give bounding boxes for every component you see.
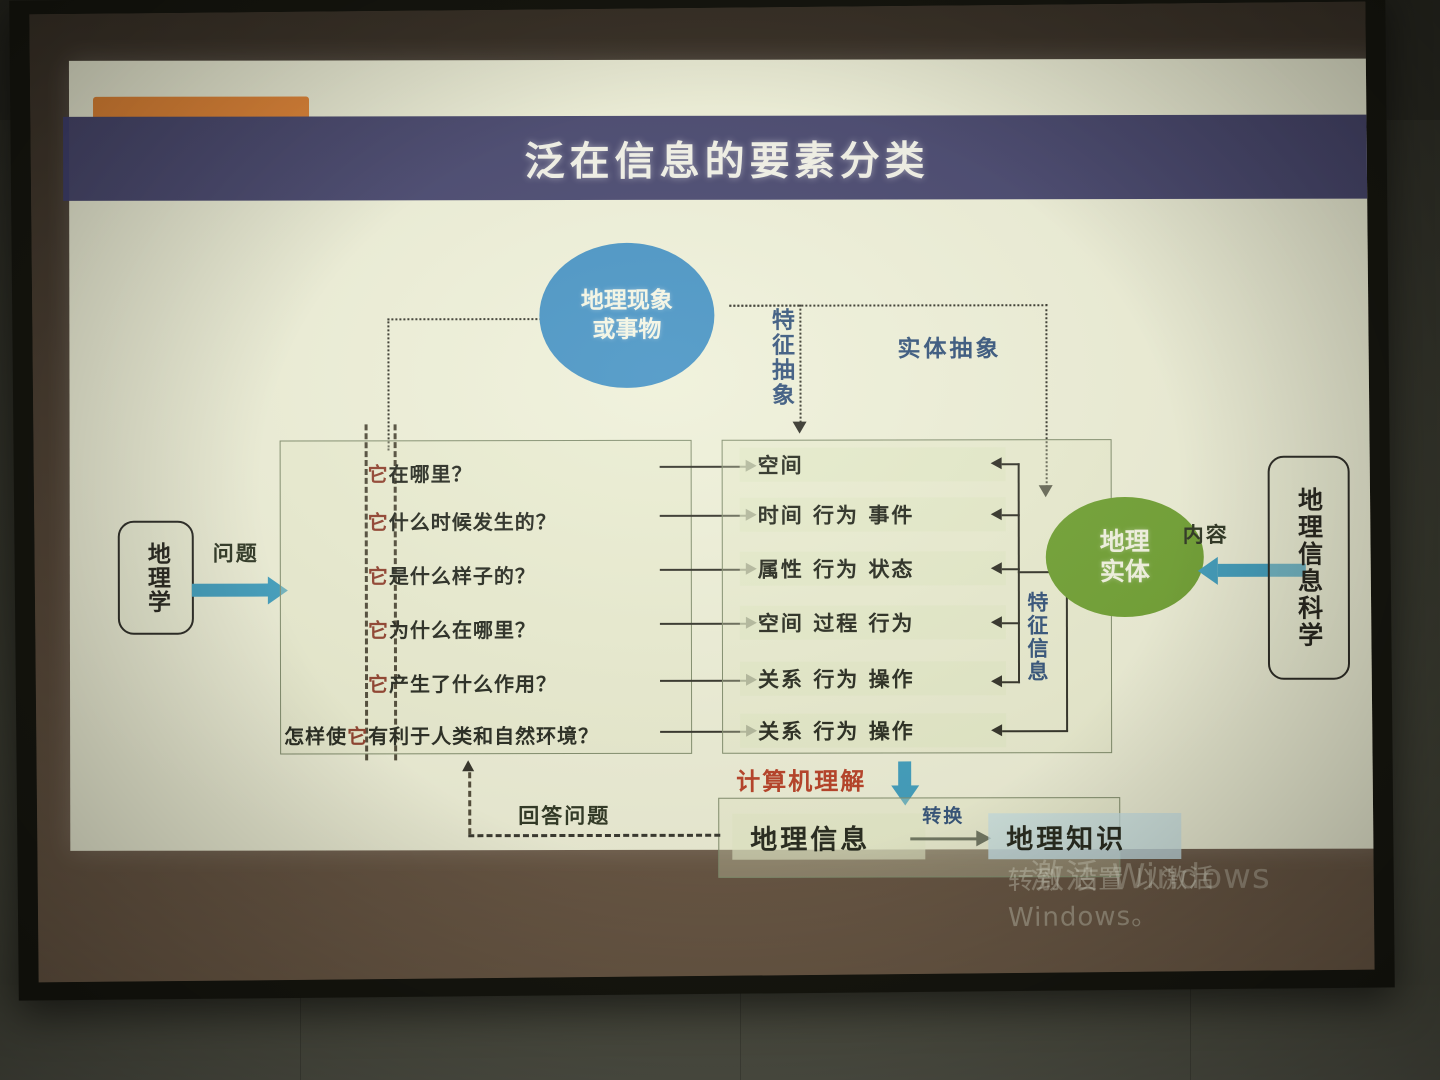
presentation-slide: 泛在信息的要素分类 [69,59,1375,851]
dotted-feature-vertical [799,305,801,423]
diagram-canvas: 地理现象 或事物 特征抽象 实体抽象 地理学 问题 [69,199,1374,851]
label-computer-understanding: 计算机理解 [736,762,866,797]
blue-arrow-understanding [898,761,911,787]
question-text: 有利于人类和自然环境？ [368,724,599,748]
question-row-6[interactable]: 怎样使它有利于人类和自然环境？ [284,720,599,750]
answer-chip-3[interactable]: 属性 行为 状态 [740,551,1006,585]
answer-text: 关系 行为 操作 [758,715,915,745]
answer-chip-2[interactable]: 时间 行为 事件 [740,497,1006,531]
wall-seam [300,985,301,1080]
transform-arrow-line [910,837,978,840]
answer-chip-6[interactable]: 关系 行为 操作 [740,713,1006,747]
feature-bus-branch-5 [1002,681,1020,683]
label-entity-abstraction: 实体抽象 [897,329,1001,363]
geographic-information-label: 地理信息 [750,817,870,856]
node-phenomenon-line1: 地理现象 [581,287,673,315]
blue-arrow-question [192,584,270,597]
label-question-arrow: 问题 [213,538,259,568]
question-pronoun: 它 [347,724,368,748]
node-entity-line1: 地理 [1100,527,1150,558]
label-transform: 转换 [922,801,964,828]
arrowhead-a6 [991,724,1002,736]
slide-title: 泛在信息的要素分类 [69,115,1375,201]
feature-bus-branch-2 [1002,514,1020,516]
answer-text: 时间 行为 事件 [758,499,915,529]
feedback-dash-vertical [468,772,471,834]
projector-screen-surface: 泛在信息的要素分类 [29,2,1374,983]
question-text: 产生了什么作用？ [389,672,557,696]
question-text: 是什么样子的？ [389,564,536,588]
answer-text: 空间 [758,450,804,480]
feature-bus-branch-3 [1002,568,1020,570]
entity-bus-branch-6 [1002,730,1068,732]
question-text: 什么时候发生的？ [389,510,557,534]
question-text: 在哪里？ [389,462,473,486]
node-geography-label: 地理学 [142,542,169,614]
question-row-4[interactable]: 它为什么在哪里？ [368,614,536,643]
feature-bus-branch-1 [1002,463,1020,465]
node-phenomenon-line2: 或事物 [581,315,673,343]
question-row-2[interactable]: 它什么时候发生的？ [368,506,557,535]
dotted-entity-horizontal [729,304,1047,307]
windows-watermark-line2: 转到 设置 以激活 Windows。 [1008,857,1375,935]
question-pronoun: 它 [368,564,389,588]
questions-panel [280,440,693,755]
question-pronoun: 它 [368,462,389,486]
blue-arrowhead-content [1198,557,1218,585]
question-row-1[interactable]: 它在哪里？ [368,458,473,487]
arrowhead-feedback [462,760,474,771]
wall-lower-panel [0,985,1440,1080]
feature-bus-branch-4 [1002,622,1020,624]
question-text: 为什么在哪里？ [389,618,536,642]
chip-geographic-information[interactable]: 地理信息 [732,813,925,859]
question-prefix: 怎样使 [284,724,347,748]
answer-text: 关系 行为 操作 [758,663,915,693]
answer-text: 属性 行为 状态 [758,553,915,583]
question-pronoun: 它 [368,618,389,642]
node-entity-line2: 实体 [1100,557,1150,588]
arrowhead-a2 [991,508,1002,520]
screenshot-root: 泛在信息的要素分类 [0,0,1440,1080]
label-feature-info: 特征信息 [1022,591,1052,683]
arrowhead-a4 [991,616,1002,628]
node-gis-science-label: 地理信息科学 [1294,487,1324,649]
arrowhead-a1 [991,457,1002,469]
answer-chip-5[interactable]: 关系 行为 操作 [740,661,1006,695]
feedback-dash-line [468,834,720,837]
projector-screen-frame: 泛在信息的要素分类 [9,0,1395,1001]
label-feature-abstraction: 特征抽象 [763,308,797,408]
wall-seam [1190,985,1191,1080]
label-answer-question: 回答问题 [518,800,610,830]
node-gis-science[interactable]: 地理信息科学 [1268,456,1350,680]
dotted-connector-vertical [387,318,389,450]
wall-seam [740,985,741,1080]
question-row-3[interactable]: 它是什么样子的？ [368,560,536,589]
arrowhead-a3 [991,562,1002,574]
arrowhead-a5 [991,675,1002,687]
node-geographic-entity[interactable]: 地理 实体 [1046,497,1204,617]
answer-chip-1[interactable]: 空间 [740,447,1006,481]
answers-panel [722,439,1113,754]
node-geography[interactable]: 地理学 [118,521,194,635]
question-pronoun: 它 [368,510,389,534]
node-geographic-phenomenon[interactable]: 地理现象 或事物 [539,243,714,388]
arrowhead-feature-abstraction [793,422,807,434]
question-row-5[interactable]: 它产生了什么作用？ [368,668,557,697]
label-content-arrow: 内容 [1183,519,1229,549]
answer-text: 空间 过程 行为 [758,607,915,637]
answer-chip-4[interactable]: 空间 过程 行为 [740,605,1006,639]
question-pronoun: 它 [368,672,389,696]
